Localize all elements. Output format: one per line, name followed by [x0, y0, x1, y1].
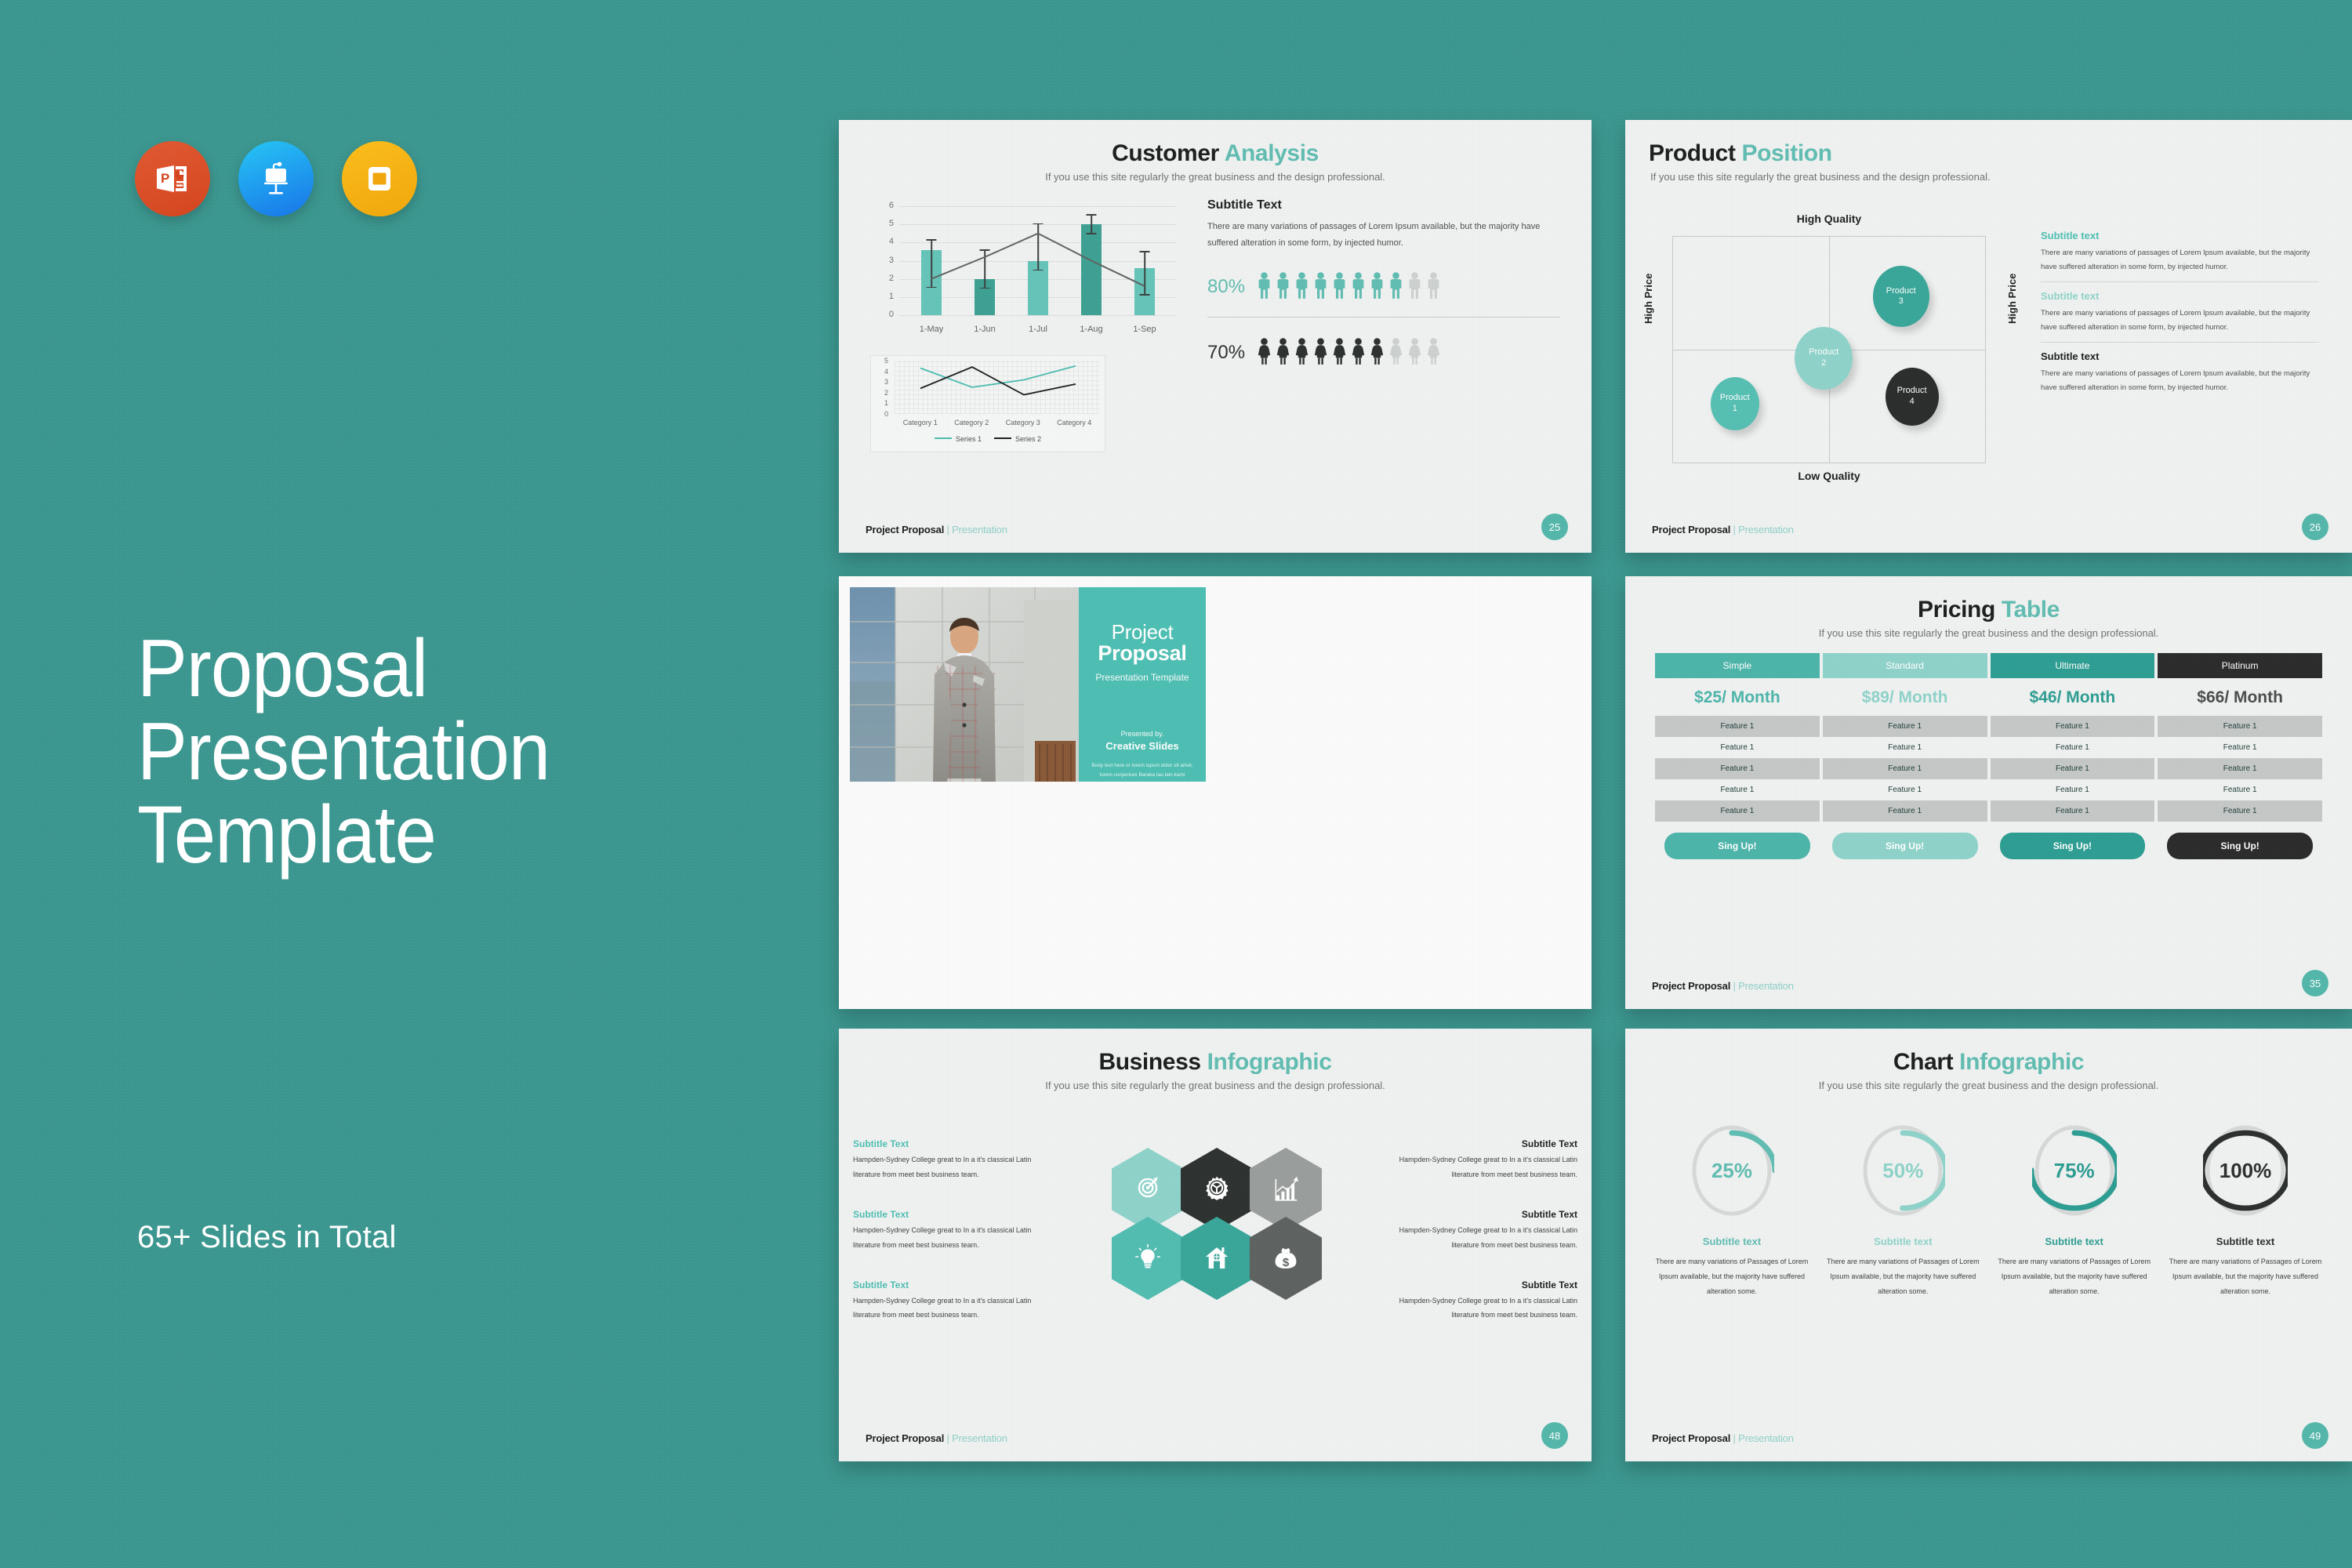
slide-chart-infographic[interactable]: Chart Infographic If you use this site r… [1625, 1029, 2352, 1461]
footer-bold: Project Proposal [866, 524, 944, 535]
title-line-3: Template [137, 793, 728, 877]
pricing-feature-cell: Feature 1 [1823, 800, 1987, 822]
pictogram-figure [1408, 272, 1421, 303]
footer-separator: | [947, 1432, 949, 1444]
product-position-text-column: Subtitle textThere are many variations o… [2041, 230, 2319, 394]
line-chart-x-labels: Category 1Category 2Category 3Category 4 [895, 419, 1100, 426]
x-tick-label: Category 1 [903, 419, 938, 426]
female-figure-icon [1258, 338, 1271, 365]
pricing-feature-cell: Feature 1 [1991, 779, 2155, 800]
female-figure-icon [1370, 338, 1384, 365]
gauge-value: 50% [1882, 1159, 1923, 1183]
pictogram-figure [1370, 272, 1384, 303]
bubble-label: Product [1897, 386, 1927, 397]
footer-bold: Project Proposal [866, 1432, 944, 1444]
pricing-plan-header: Standard [1823, 653, 1987, 678]
female-figure-icon [1333, 338, 1346, 365]
hexagon-cluster: $ [1112, 1148, 1322, 1375]
page-badge: 25 [1541, 514, 1568, 540]
block-heading: Subtitle Text [853, 1138, 1049, 1149]
footer-separator: | [947, 524, 949, 535]
infographic-text-block: Subtitle TextHampden-Sydney College grea… [853, 1138, 1049, 1182]
presented-by-name: Creative Slides [1105, 740, 1178, 752]
pricing-button-cell: Sing Up! [1655, 822, 1820, 859]
pricing-feature-cell: Feature 1 [2158, 737, 2322, 758]
footer-light: Presentation [1738, 524, 1794, 535]
y-tick-label: 2 [870, 274, 894, 283]
infographic-text-block: Subtitle TextHampden-Sydney College grea… [1381, 1279, 1577, 1323]
block-heading: Subtitle Text [1381, 1138, 1577, 1149]
pictogram-figure [1276, 272, 1290, 303]
info-body: There are many variations of passages of… [2041, 367, 2319, 394]
divider [2041, 281, 2319, 282]
male-figure-icon [1314, 272, 1327, 299]
male-figure-icon [1352, 272, 1365, 299]
y-tick-label: 0 [870, 310, 894, 319]
x-tick-label: 1-May [918, 325, 945, 334]
gauge-heading: Subtitle text [1996, 1236, 2153, 1247]
gauge-heading: Subtitle text [2167, 1236, 2324, 1247]
info-heading: Subtitle text [2041, 350, 2319, 362]
donut-gauge: 75%Subtitle textThere are many variation… [1996, 1123, 2153, 1299]
pricing-feature-cell: Feature 1 [1823, 758, 1987, 779]
male-figure-icon [1427, 272, 1440, 299]
slide-customer-analysis[interactable]: Customer Analysis If you use this site r… [839, 120, 1592, 553]
pricing-feature-cell: Feature 1 [1991, 737, 2155, 758]
pricing-feature-row: Feature 1Feature 1Feature 1Feature 1 [1655, 716, 2322, 737]
x-tick-label: Category 2 [954, 419, 989, 426]
infographic-text-block: Subtitle TextHampden-Sydney College grea… [1381, 1138, 1577, 1182]
footer: Project Proposal | Presentation [866, 524, 1007, 535]
info-body: There are many variations of passages of… [2041, 307, 2319, 334]
info-heading: Subtitle text [2041, 290, 2319, 302]
line-chart-series [895, 361, 1102, 414]
footer-light: Presentation [1738, 980, 1794, 992]
google-slides-icon[interactable] [342, 141, 417, 216]
donut-gauge: 25%Subtitle textThere are many variation… [1653, 1123, 1810, 1299]
hexagon-house[interactable] [1181, 1217, 1253, 1300]
pictogram-figure [1427, 338, 1440, 368]
gauge-ring: 50% [1860, 1123, 1945, 1218]
pricing-feature-row: Feature 1Feature 1Feature 1Feature 1 [1655, 758, 2322, 779]
slide-title: Chart Infographic [1625, 1049, 2352, 1076]
slide-title: Product Position [1649, 140, 2352, 167]
pictogram-figure [1370, 338, 1384, 368]
pricing-plan-header: Ultimate [1991, 653, 2155, 678]
y-tick-label: 4 [871, 368, 888, 376]
page-badge: 49 [2302, 1422, 2328, 1449]
gauge-ring: 75% [2032, 1123, 2117, 1218]
presented-by-label: Presented by. [1121, 730, 1164, 738]
pictogram-figure [1333, 338, 1346, 368]
gauge-ring: 100% [2203, 1123, 2288, 1218]
pictogram-figure [1314, 272, 1327, 303]
pricing-feature-cell: Feature 1 [1655, 716, 1820, 737]
male-figure-icon [1258, 272, 1271, 299]
pictogram-figure [1295, 338, 1308, 368]
axis-label-high-quality: High Quality [1672, 212, 1986, 225]
footer-separator: | [1733, 980, 1736, 992]
legend-item: Series 2 [994, 431, 1041, 445]
info-block: Subtitle textThere are many variations o… [2041, 350, 2319, 394]
slide-subtitle: If you use this site regularly the great… [839, 171, 1592, 183]
female-figure-icon [1389, 338, 1403, 365]
axis-label-high-price-left: High Price [1642, 274, 1654, 324]
x-tick-label: 1-Aug [1078, 325, 1105, 334]
pricing-price: $66/ Month [2158, 678, 2322, 716]
bubble-number: 1 [1733, 404, 1737, 415]
block-heading: Subtitle Text [853, 1209, 1049, 1220]
left-promo-panel: P Proposal Presentation Template 65+ [0, 0, 831, 1568]
legend-item: Series 1 [935, 431, 982, 445]
pricing-feature-cell: Feature 1 [1823, 716, 1987, 737]
block-body: Hampden-Sydney College great to In a it'… [1381, 1294, 1577, 1323]
bubble-label: Product [1720, 393, 1750, 404]
footer: Project Proposal | Presentation [1652, 524, 1794, 535]
pictogram-figure [1333, 272, 1346, 303]
male-figure-icon [1276, 272, 1290, 299]
info-block: Subtitle textThere are many variations o… [2041, 230, 2319, 274]
gauge-body: There are many variations of Passages of… [2167, 1254, 2324, 1299]
female-figure-icon [1352, 338, 1365, 365]
y-tick-label: 3 [870, 256, 894, 265]
male-figure-icon [1370, 272, 1384, 299]
x-tick-label: 1-Jun [971, 325, 998, 334]
gauge-heading: Subtitle text [1824, 1236, 1981, 1247]
slide-title-dark: Product [1649, 140, 1736, 166]
slide-title-dark: Customer [1112, 140, 1219, 166]
pricing-feature-cell: Feature 1 [1823, 779, 1987, 800]
block-body: Hampden-Sydney College great to In a it'… [1381, 1223, 1577, 1253]
page-badge: 35 [2302, 970, 2328, 996]
info-heading: Subtitle text [2041, 230, 2319, 241]
product-bubble[interactable]: Product3 [1873, 266, 1929, 327]
pictogram-figure [1352, 272, 1365, 303]
pricing-feature-row: Feature 1Feature 1Feature 1Feature 1 [1655, 779, 2322, 800]
line-chart-legend: Series 1Series 2 [871, 431, 1105, 445]
gear-icon [1202, 1173, 1232, 1207]
app-icon-row: P [135, 141, 417, 216]
cover-body-text: Body text here or lorem ispum dolor sit … [1091, 761, 1193, 779]
infographic-text-block: Subtitle TextHampden-Sydney College grea… [1381, 1209, 1577, 1253]
footer-light: Presentation [952, 1432, 1007, 1444]
pricing-button-cell: Sing Up! [1823, 822, 1987, 859]
bar-chart: 0123456 1-May1-Jun1-Jul1-Aug1-Sep [870, 206, 1176, 336]
slide-title: Customer Analysis [839, 140, 1592, 167]
bar-chart-icon [1271, 1173, 1301, 1207]
male-figure-icon [1408, 272, 1421, 299]
pricing-button-row: Sing Up!Sing Up!Sing Up!Sing Up! [1655, 822, 2322, 859]
pictogram-figure [1314, 338, 1327, 368]
line-chart: 012345 Category 1Category 2Category 3Cat… [870, 355, 1105, 452]
infographic-text-block: Subtitle TextHampden-Sydney College grea… [853, 1279, 1049, 1323]
pictogram-figure [1295, 272, 1308, 303]
footer-light: Presentation [952, 524, 1007, 535]
slide-count-label: 65+ Slides in Total [137, 1220, 397, 1255]
signup-button[interactable]: Sing Up! [1832, 833, 1978, 859]
slide-subtitle: If you use this site regularly the great… [1625, 627, 2352, 639]
footer-bold: Project Proposal [1652, 1432, 1730, 1444]
footer-separator: | [1733, 524, 1736, 535]
divider [2041, 342, 2319, 343]
gauge-body: There are many variations of Passages of… [1996, 1254, 2153, 1299]
x-tick-label: Category 3 [1006, 419, 1040, 426]
pricing-feature-cell: Feature 1 [1655, 737, 1820, 758]
donut-gauge-row: 25%Subtitle textThere are many variation… [1653, 1123, 2324, 1299]
y-tick-label: 1 [871, 399, 888, 407]
footer: Project Proposal | Presentation [1652, 980, 1794, 992]
block-heading: Subtitle Text [1381, 1209, 1577, 1220]
gauge-body: There are many variations of Passages of… [1653, 1254, 1810, 1299]
bubble-number: 3 [1899, 296, 1904, 307]
product-bubble[interactable]: Product1 [1711, 377, 1759, 430]
cover-line-2: Proposal [1098, 641, 1186, 666]
pictogram-figure [1427, 272, 1440, 303]
signup-button[interactable]: Sing Up! [2167, 833, 2313, 859]
footer: Project Proposal | Presentation [1652, 1432, 1794, 1444]
donut-gauge: 100%Subtitle textThere are many variatio… [2167, 1123, 2324, 1299]
infographic-text-block: Subtitle TextHampden-Sydney College grea… [853, 1209, 1049, 1253]
male-figure-icon [1295, 272, 1308, 299]
bubble-label: Product [1809, 347, 1838, 358]
block-body: Hampden-Sydney College great to In a it'… [1381, 1152, 1577, 1182]
hexagon-lightbulb[interactable] [1112, 1217, 1184, 1300]
pricing-price-row: $25/ Month$89/ Month$46/ Month$66/ Month [1655, 678, 2322, 716]
y-tick-label: 0 [871, 410, 888, 418]
axis-label-low-quality: Low Quality [1672, 470, 1986, 482]
customer-analysis-text-column: Subtitle Text There are many variations … [1207, 198, 1560, 368]
slide-title-accent: Infographic [1207, 1049, 1332, 1075]
female-figure-icon [1408, 338, 1421, 365]
pricing-feature-cell: Feature 1 [1823, 737, 1987, 758]
signup-button[interactable]: Sing Up! [2000, 833, 2146, 859]
pricing-plan-header: Platinum [2158, 653, 2322, 678]
line-chart-plot-area [895, 361, 1100, 414]
x-tick-label: Category 4 [1057, 419, 1091, 426]
pictogram-figure [1408, 338, 1421, 368]
male-figure-icon [1333, 272, 1346, 299]
gauge-heading: Subtitle text [1653, 1236, 1810, 1247]
male-figures [1258, 272, 1440, 303]
pictogram-percent-male: 80% [1207, 276, 1245, 298]
bubble-number: 2 [1821, 358, 1826, 369]
pictogram-figure [1258, 338, 1271, 368]
pricing-header-row: SimpleStandardUltimatePlatinum [1655, 653, 2322, 678]
y-tick-label: 3 [871, 378, 888, 386]
pricing-button-cell: Sing Up! [1991, 822, 2155, 859]
page-badge: 48 [1541, 1422, 1568, 1449]
pricing-feature-cell: Feature 1 [1655, 800, 1820, 822]
donut-gauge: 50%Subtitle textThere are many variation… [1824, 1123, 1981, 1299]
pricing-feature-cell: Feature 1 [1991, 758, 2155, 779]
female-figures [1258, 338, 1440, 368]
slide-title-cover[interactable]: Project Proposal Presentation Template P… [839, 576, 1592, 1009]
slide-pricing-table[interactable]: Pricing Table If you use this site regul… [1625, 576, 2352, 1009]
pricing-feature-cell: Feature 1 [1991, 800, 2155, 822]
pictogram-row-female: 70% [1207, 338, 1560, 368]
block-body: Hampden-Sydney College great to In a it'… [853, 1294, 1049, 1323]
slide-title-accent: Position [1741, 140, 1831, 166]
house-icon [1202, 1242, 1232, 1276]
pricing-price: $25/ Month [1655, 678, 1820, 716]
axis-label-high-price-right: High Price [2006, 274, 2018, 324]
cover-text-panel: Project Proposal Presentation Template P… [1079, 587, 1206, 782]
product-bubble[interactable]: Product2 [1795, 327, 1853, 390]
footer-bold: Project Proposal [1652, 980, 1730, 992]
x-tick-label: 1-Sep [1131, 325, 1158, 334]
gauge-value: 100% [2220, 1159, 2272, 1183]
footer-separator: | [1733, 1432, 1736, 1444]
female-figure-icon [1314, 338, 1327, 365]
pricing-price: $46/ Month [1991, 678, 2155, 716]
pictogram-figure [1276, 338, 1290, 368]
block-body: Hampden-Sydney College great to In a it'… [853, 1152, 1049, 1182]
x-tick-label: 1-Jul [1025, 325, 1051, 334]
block-body: Hampden-Sydney College great to In a it'… [853, 1223, 1049, 1253]
pricing-feature-cell: Feature 1 [2158, 779, 2322, 800]
svg-text:P: P [161, 171, 169, 186]
pricing-feature-cell: Feature 1 [1991, 716, 2155, 737]
pricing-plan-header: Simple [1655, 653, 1820, 678]
y-tick-label: 5 [870, 219, 894, 228]
slide-subtitle: If you use this site regularly the great… [839, 1080, 1592, 1091]
block-heading: Subtitle Text [853, 1279, 1049, 1290]
position-matrix: Product1Product2Product3Product4 [1672, 236, 1986, 463]
cover-photo [850, 587, 1079, 782]
female-figure-icon [1276, 338, 1290, 365]
y-tick-label: 2 [871, 389, 888, 397]
lightbulb-icon [1133, 1242, 1163, 1276]
slide-title-accent: Table [2002, 597, 2060, 622]
infographic-left-column: Subtitle TextHampden-Sydney College grea… [853, 1138, 1049, 1323]
slide-subtitle: If you use this site regularly the great… [1625, 1080, 2352, 1091]
slide-title-dark: Business [1098, 1049, 1200, 1075]
pricing-price: $89/ Month [1823, 678, 1987, 716]
y-tick-label: 4 [870, 237, 894, 246]
info-block: Subtitle textThere are many variations o… [2041, 290, 2319, 334]
bubble-number: 4 [1910, 397, 1915, 408]
money-bag-icon: $ [1271, 1242, 1301, 1276]
title-line-1: Proposal [137, 627, 728, 710]
target-icon [1133, 1173, 1163, 1207]
pricing-feature-row: Feature 1Feature 1Feature 1Feature 1 [1655, 800, 2322, 822]
cover-line-3: Presentation Template [1095, 672, 1189, 683]
slide-title-accent: Analysis [1225, 140, 1319, 166]
pictogram-figure [1352, 338, 1365, 368]
powerpoint-icon[interactable]: P [135, 141, 210, 216]
gauge-value: 25% [1711, 1159, 1752, 1183]
pictogram-percent-female: 70% [1207, 342, 1245, 364]
footer-light: Presentation [1738, 1432, 1794, 1444]
pricing-feature-cell: Feature 1 [2158, 758, 2322, 779]
pricing-feature-row: Feature 1Feature 1Feature 1Feature 1 [1655, 737, 2322, 758]
svg-text:$: $ [1283, 1255, 1290, 1269]
gauge-value: 75% [2054, 1159, 2095, 1183]
slide-title-dark: Pricing [1918, 597, 1995, 622]
slide-business-infographic[interactable]: Business Infographic If you use this sit… [839, 1029, 1592, 1461]
subtitle-body: There are many variations of passages of… [1207, 219, 1560, 252]
divider [1207, 317, 1560, 318]
gauge-body: There are many variations of Passages of… [1824, 1254, 1981, 1299]
block-heading: Subtitle Text [1381, 1279, 1577, 1290]
page-title: Proposal Presentation Template [137, 627, 728, 877]
pictogram-figure [1389, 272, 1403, 303]
bubble-label: Product [1886, 286, 1916, 297]
pricing-table: SimpleStandardUltimatePlatinum$25/ Month… [1655, 653, 2322, 859]
pricing-feature-cell: Feature 1 [2158, 716, 2322, 737]
pictogram-row-male: 80% [1207, 272, 1560, 303]
male-figure-icon [1389, 272, 1403, 299]
pictogram-figure [1389, 338, 1403, 368]
pricing-button-cell: Sing Up! [2158, 822, 2322, 859]
slide-title: Pricing Table [1625, 597, 2352, 623]
slide-product-position[interactable]: Product Position If you use this site re… [1625, 120, 2352, 553]
infographic-right-column: Subtitle TextHampden-Sydney College grea… [1381, 1138, 1577, 1323]
pricing-feature-cell: Feature 1 [1655, 779, 1820, 800]
page-badge: 26 [2302, 514, 2328, 540]
female-figure-icon [1295, 338, 1308, 365]
y-tick-label: 1 [870, 292, 894, 301]
hexagon-money-bag[interactable]: $ [1250, 1217, 1322, 1300]
footer: Project Proposal | Presentation [866, 1432, 1007, 1444]
title-line-2: Presentation [137, 710, 728, 793]
gauge-ring: 25% [1690, 1123, 1774, 1218]
bar-chart-overlay-line [905, 206, 1171, 315]
pricing-feature-cell: Feature 1 [2158, 800, 2322, 822]
y-tick-label: 5 [871, 357, 888, 365]
female-figure-icon [1427, 338, 1440, 365]
info-body: There are many variations of passages of… [2041, 246, 2319, 274]
keynote-icon[interactable] [238, 141, 314, 216]
signup-button[interactable]: Sing Up! [1664, 833, 1810, 859]
slide-title-dark: Chart [1893, 1049, 1953, 1075]
pictogram-figure [1258, 272, 1271, 303]
slide-title: Business Infographic [839, 1049, 1592, 1076]
subtitle-heading: Subtitle Text [1207, 198, 1560, 212]
bar-chart-x-labels: 1-May1-Jun1-Jul1-Aug1-Sep [905, 325, 1171, 334]
pricing-feature-cell: Feature 1 [1655, 758, 1820, 779]
slide-subtitle: If you use this site regularly the great… [1650, 171, 2352, 183]
y-tick-label: 6 [870, 201, 894, 210]
slide-title-accent: Infographic [1959, 1049, 2084, 1075]
footer-bold: Project Proposal [1652, 524, 1730, 535]
product-bubble[interactable]: Product4 [1886, 368, 1939, 426]
